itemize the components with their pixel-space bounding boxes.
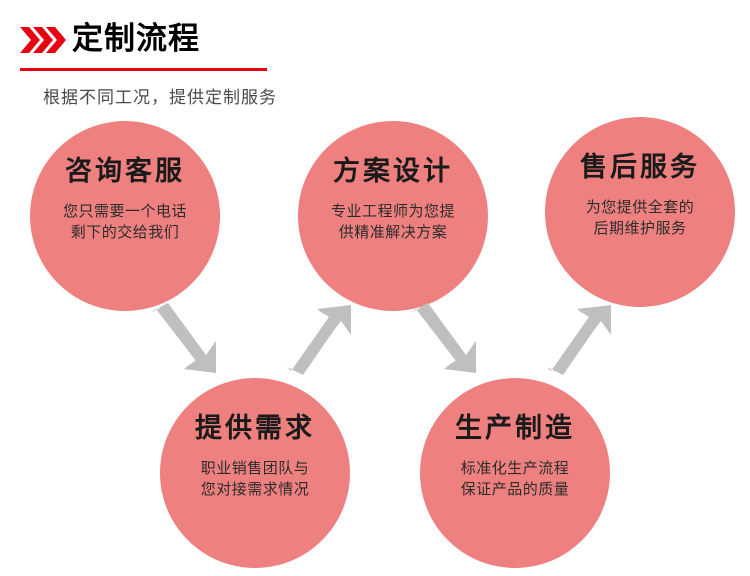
page-header: 定制流程 [12, 14, 272, 70]
step-description-line: 剩下的交给我们 [63, 222, 187, 243]
process-step-circle-consultation[interactable]: 咨询客服 您只需要一个电话 剩下的交给我们 [30, 121, 220, 311]
page-title: 定制流程 [72, 19, 200, 59]
step-description-line: 供精准解决方案 [331, 222, 455, 243]
triple-chevron-right-icon [20, 27, 66, 53]
arrow-down-right-icon [148, 303, 220, 380]
step-description-line: 您对接需求情况 [201, 479, 310, 500]
process-step-circle-requirements[interactable]: 提供需求 职业销售团队与 您对接需求情况 [160, 378, 350, 568]
step-title: 售后服务 [580, 145, 700, 184]
arrow-down-right-icon [408, 303, 480, 380]
step-description: 职业销售团队与 您对接需求情况 [201, 458, 310, 500]
step-description-line: 职业销售团队与 [201, 458, 310, 479]
step-description: 您只需要一个电话 剩下的交给我们 [63, 201, 187, 243]
step-title: 咨询客服 [65, 149, 185, 188]
step-description-line: 标准化生产流程 [461, 458, 570, 479]
step-description-line: 您只需要一个电话 [63, 201, 187, 222]
title-underline-rule [20, 68, 267, 71]
step-description-line: 专业工程师为您提 [331, 201, 455, 222]
customization-process-infographic: 定制流程 根据不同工况，提供定制服务 咨询客服 您只需要一个电话 剩下的交给我们… [0, 0, 750, 576]
step-description: 为您提供全套的 后期维护服务 [586, 197, 695, 239]
process-step-circle-design[interactable]: 方案设计 专业工程师为您提 供精准解决方案 [298, 121, 488, 311]
arrow-up-right-icon [543, 303, 615, 380]
page-subtitle: 根据不同工况，提供定制服务 [43, 83, 277, 108]
step-description-line: 后期维护服务 [586, 218, 695, 239]
step-description-line: 为您提供全套的 [586, 197, 695, 218]
process-step-circle-after-sales[interactable]: 售后服务 为您提供全套的 后期维护服务 [545, 117, 735, 307]
step-description-line: 保证产品的质量 [461, 479, 570, 500]
step-description: 标准化生产流程 保证产品的质量 [461, 458, 570, 500]
step-title: 提供需求 [195, 406, 315, 445]
step-title: 生产制造 [455, 406, 575, 445]
arrow-up-right-icon [283, 303, 355, 380]
step-title: 方案设计 [333, 149, 453, 188]
process-step-circle-manufacturing[interactable]: 生产制造 标准化生产流程 保证产品的质量 [420, 378, 610, 568]
step-description: 专业工程师为您提 供精准解决方案 [331, 201, 455, 243]
